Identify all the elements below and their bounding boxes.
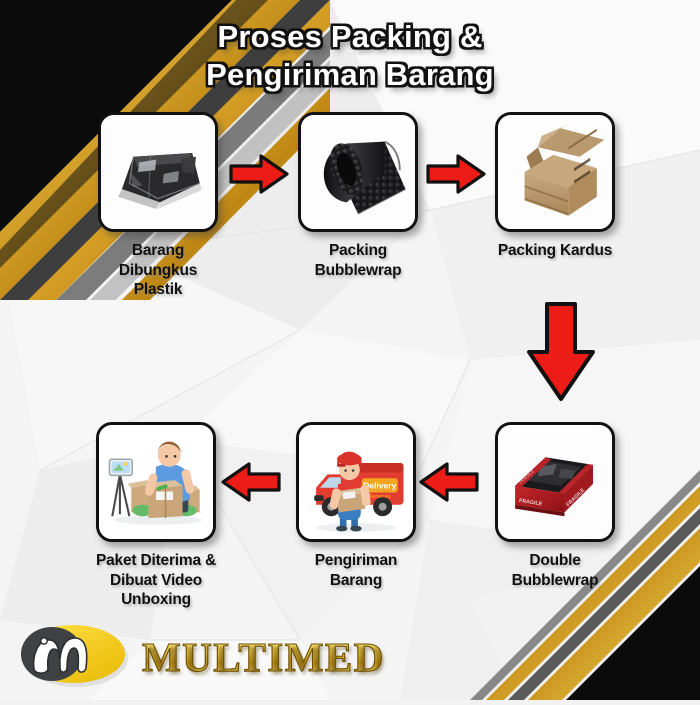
step-4-caption-line-1: Double [489,551,621,571]
step-1-caption-line-2: Plastik [92,280,224,300]
step-2-caption: Packing Bubblewrap [292,241,424,280]
flow-step-2: Packing Bubblewrap [292,112,424,280]
arrow-step2-to-step3 [425,152,487,201]
process-flow-diagram: Barang Dibungkus Plastik [0,0,700,700]
step-3-caption: Packing Kardus [489,241,621,261]
step-2-image-card [298,112,418,232]
step-2-caption-line-2: Bubblewrap [292,261,424,281]
step-1-caption: Barang Dibungkus Plastik [92,241,224,300]
open-cardboard-box-photo [498,115,612,229]
flow-step-5: Delivery Services [290,422,422,590]
arrow-step5-to-step6 [220,460,282,509]
step-4-caption: Double Bubblewrap [489,551,621,590]
arrow-step4-to-step5 [418,460,480,509]
step-5-caption-line-2: Barang [290,571,422,591]
step-6-caption-line-2: Dibuat Video Unboxing [90,571,222,610]
arrow-step1-to-step2 [228,152,290,201]
step-6-caption: Paket Diterima & Dibuat Video Unboxing [90,551,222,610]
step-2-caption-line-1: Packing [292,241,424,261]
step-5-image-card: Delivery Services [296,422,416,542]
flow-step-1: Barang Dibungkus Plastik [92,112,224,300]
step-1-caption-line-1: Barang Dibungkus [92,241,224,280]
flow-step-4: FRAGILE FRAGILE FRAGILE Double Bubblewra… [489,422,621,590]
step-6-caption-line-1: Paket Diterima & [90,551,222,571]
step-3-image-card [495,112,615,232]
step-1-image-card [98,112,218,232]
fragile-taped-package-photo: FRAGILE FRAGILE FRAGILE [498,425,612,539]
step-6-image-card [96,422,216,542]
step-5-caption-line-1: Pengiriman [290,551,422,571]
brand-footer: MULTIMED [18,621,389,692]
page-title-line-2: Pengiriman Barang [0,56,700,94]
page-title: Proses Packing & Pengiriman Barang [0,18,700,94]
black-bubblewrap-roll-photo [301,115,415,229]
page-title-line-1: Proses Packing & [0,18,700,56]
brand-name: MULTIMED [142,633,389,681]
plastic-wrapped-item-photo [101,115,215,229]
unboxing-video-illustration [99,425,213,539]
step-5-caption: Pengiriman Barang [290,551,422,590]
step-4-caption-line-2: Bubblewrap [489,571,621,591]
multimed-logo-mark [18,621,128,692]
arrow-step3-to-step4 [523,300,599,409]
step-4-image-card: FRAGILE FRAGILE FRAGILE [495,422,615,542]
delivery-courier-truck-illustration: Delivery Services [299,425,413,539]
flow-step-6: Paket Diterima & Dibuat Video Unboxing [90,422,222,610]
step-3-caption-line-1: Packing Kardus [489,241,621,261]
flow-step-3: Packing Kardus [489,112,621,261]
